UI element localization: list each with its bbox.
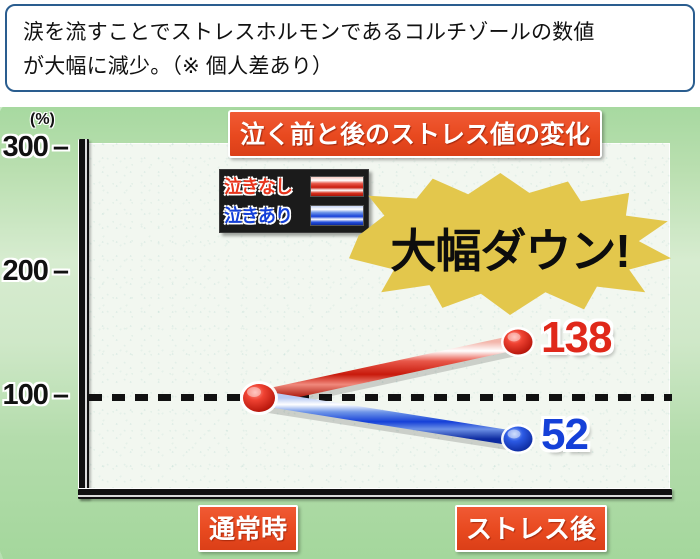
x-axis-line bbox=[78, 488, 672, 499]
chart-title-banner: 泣く前と後のストレス値の変化 bbox=[228, 110, 602, 158]
y-tick-300-dash: – bbox=[53, 131, 68, 164]
chart-panel: (%) 300– 200– 100– 泣く前と後のストレス値の変化 泣きなし 泣… bbox=[0, 107, 700, 559]
caption-box: 涙を流すことでストレスホルモンであるコルチゾールの数値 が大幅に減少。（※ 個人… bbox=[5, 4, 695, 92]
y-tick-200-dash: – bbox=[53, 255, 68, 288]
legend: 泣きなし 泣きあり bbox=[219, 169, 369, 233]
starburst-callout-text: 大幅ダウン! bbox=[349, 215, 671, 281]
y-tick-100-value: 100 bbox=[2, 379, 47, 411]
legend-item-nakiari: 泣きあり bbox=[224, 202, 364, 228]
category-label-normal: 通常時 bbox=[198, 505, 298, 552]
y-tick-200: 200– bbox=[0, 255, 68, 288]
y-tick-100: 100– bbox=[0, 379, 68, 412]
y-axis-unit-label: (%) bbox=[30, 111, 55, 129]
y-axis-line bbox=[78, 139, 89, 499]
legend-item-nakinashi-label: 泣きなし bbox=[224, 173, 305, 199]
y-tick-100-dash: – bbox=[53, 379, 68, 412]
chart-title-text: 泣く前と後のストレス値の変化 bbox=[240, 115, 590, 151]
baseline-100-dashed bbox=[89, 394, 672, 401]
legend-item-nakinashi: 泣きなし bbox=[224, 173, 364, 199]
legend-swatch-red bbox=[310, 176, 364, 197]
value-label-red-138: 138 bbox=[541, 313, 611, 363]
y-tick-300-value: 300 bbox=[2, 131, 47, 163]
legend-item-nakiari-label: 泣きあり bbox=[224, 202, 305, 228]
y-tick-200-value: 200 bbox=[2, 255, 47, 287]
value-label-blue-52: 52 bbox=[541, 410, 588, 460]
category-label-after-stress: ストレス後 bbox=[455, 505, 607, 552]
caption-text: 涙を流すことでストレスホルモンであるコルチゾールの数値 が大幅に減少。（※ 個人… bbox=[23, 16, 683, 84]
y-tick-300: 300– bbox=[0, 131, 68, 164]
